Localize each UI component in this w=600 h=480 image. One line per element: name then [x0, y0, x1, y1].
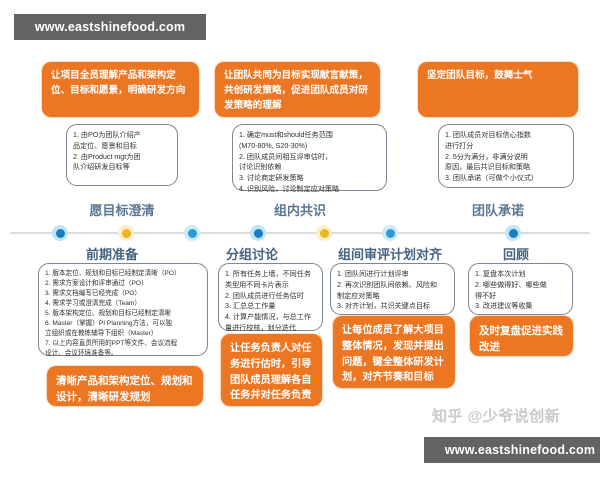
- detail-line: 4. 需求学习或澄清完成（Team）: [45, 299, 201, 309]
- detail-box-below-4: 1. 复盘本次计划 2. 哪些做得好、哪些做 得不好 3. 改进建议等收集: [468, 263, 573, 315]
- phase-label-below-3: 组间审评计划对齐: [338, 244, 442, 263]
- phase-label-below-4: 回顾: [503, 244, 529, 263]
- detail-line: 队介绍研发目标等: [73, 162, 171, 173]
- timeline-dot-core: [122, 229, 131, 238]
- outcome-box-below-1: 清晰产品和架构定位、规划和设计，清晰研发规划: [47, 366, 203, 406]
- phase-label-below-1: 前期准备: [86, 244, 138, 263]
- timeline-dot-core: [509, 229, 518, 238]
- watermark-banner-bottom: www.eastshinefood.com: [424, 437, 600, 463]
- detail-line: 讨论识别依赖: [239, 162, 380, 173]
- detail-line: 原因，最后共识目标和策略: [445, 162, 567, 173]
- detail-line: 2. 由Product mgt为团: [73, 152, 171, 163]
- infographic-canvas: www.eastshinefood.com www.eastshinefood.…: [0, 0, 600, 480]
- watermark-zhihu: 知乎 @少爷说创新: [432, 405, 560, 426]
- detail-line: 1. 团队成员对目标信心指数: [445, 130, 567, 141]
- detail-line: 3. 对齐计划，共识关键点目标: [337, 301, 448, 312]
- phase-label-below-2: 分组讨论: [226, 244, 278, 263]
- detail-line: 进行打分: [445, 141, 567, 152]
- timeline-dot-core: [320, 229, 329, 238]
- detail-line: 设计、会议环境准备等。: [45, 349, 201, 359]
- detail-box-below-1: 1. 版本定位、规划和目标已经制定清晰（PO） 2. 需求方案设计和评审通过（P…: [38, 263, 208, 356]
- detail-line: 1. 团队间进行计划评审: [337, 269, 448, 280]
- timeline-dot-3[interactable]: [184, 225, 200, 241]
- detail-line: 制定应对策略: [337, 291, 448, 302]
- phase-label-above-2: 组内共识: [274, 200, 326, 219]
- detail-line: 2. 哪些做得好、哪些做: [475, 280, 566, 291]
- detail-line: 2. 团队成员间相互评审估时，: [239, 152, 380, 163]
- timeline-dot-5[interactable]: [316, 225, 332, 241]
- detail-box-below-3: 1. 团队间进行计划评审 2. 再次识别团队间依赖、风险和 制定应对策略 3. …: [330, 263, 455, 315]
- outcome-box-below-3: 让每位成员了解大项目整体情况，发现并提出问题，键全整体研发计划，对齐节奏和目标: [333, 316, 455, 388]
- detail-line: 得不好: [475, 291, 566, 302]
- detail-line: 立组织或在教练辅导下组织（Master）: [45, 329, 201, 339]
- detail-line: 5. 版本架构定位、规划和目标已经制定清晰: [45, 309, 201, 319]
- timeline-dot-1[interactable]: [52, 225, 68, 241]
- detail-line: 1. 所有任务上墙，不同任务: [225, 269, 316, 280]
- timeline-dot-core: [386, 229, 395, 238]
- detail-line: 3. 汇总总工作量: [225, 301, 316, 312]
- detail-line: 1. 确定must和should任务范围: [239, 130, 380, 141]
- detail-line: 4. 计算产能情况，与总工作: [225, 312, 316, 323]
- detail-line: 1. 复盘本次计划: [475, 269, 566, 280]
- timeline-dot-core: [254, 229, 263, 238]
- timeline-dot-2[interactable]: [118, 225, 134, 241]
- timeline-dot-6[interactable]: [382, 225, 398, 241]
- detail-line: 3. 讨论商定研发策略: [239, 173, 380, 184]
- detail-line: 2. 需求方案设计和评审通过（PO）: [45, 279, 201, 289]
- watermark-banner-top: www.eastshinefood.com: [14, 14, 206, 40]
- detail-line: (M70-80%, S20-30%): [239, 141, 380, 152]
- timeline-dot-4[interactable]: [250, 225, 266, 241]
- detail-box-below-2: 1. 所有任务上墙，不同任务 类型用不同卡片表示 2. 团队成员进行任务估时 3…: [218, 263, 323, 331]
- detail-line: 2. 团队成员进行任务估时: [225, 291, 316, 302]
- detail-line: 量进行校核，划分迭代: [225, 323, 316, 334]
- detail-line: 6. Master（掌握）PI Planning方法，可以独: [45, 319, 201, 329]
- detail-line: 3. 团队承诺（可做个小仪式）: [445, 173, 567, 184]
- detail-line: 2. 再次识别团队间依赖、风险和: [337, 280, 448, 291]
- detail-line: 2. 5分为满分，非满分说明: [445, 152, 567, 163]
- detail-line: 1. 版本定位、规划和目标已经制定清晰（PO）: [45, 269, 201, 279]
- phase-label-above-1: 愿目标澄清: [89, 200, 154, 219]
- timeline-dot-core: [188, 229, 197, 238]
- detail-box-above-3: 1. 团队成员对目标信心指数 进行打分 2. 5分为满分，非满分说明 原因，最后…: [438, 124, 574, 188]
- detail-line: 4. 识别风险，讨论制定应对策略: [239, 184, 380, 195]
- outcome-box-below-4: 及时复盘促进实践改进: [470, 316, 573, 356]
- detail-box-above-1: 1. 由PO为团队介绍产 品定位、愿景和目标 2. 由Product mgt为团…: [66, 124, 178, 186]
- goal-box-above-3: 坚定团队目标，鼓舞士气: [418, 62, 578, 117]
- timeline-dot-7[interactable]: [505, 225, 521, 241]
- phase-label-above-3: 团队承诺: [472, 200, 524, 219]
- outcome-box-below-2: 让任务负责人对任务进行估时，引导团队成员理解各自任务并对任务负责: [221, 334, 322, 406]
- detail-line: 3. 改进建议等收集: [475, 301, 566, 312]
- timeline-axis: [10, 232, 590, 234]
- detail-line: 3. 需求文档编写已经完成（PO）: [45, 289, 201, 299]
- detail-line: 7. 以上内容直贯所用的PPT等文件、会议流程: [45, 339, 201, 349]
- goal-box-above-1: 让项目全员理解产品和架构定位、目标和愿景，明确研发方向: [42, 62, 199, 117]
- detail-line: 1. 由PO为团队介绍产: [73, 130, 171, 141]
- detail-line: 类型用不同卡片表示: [225, 280, 316, 291]
- detail-box-above-2: 1. 确定must和should任务范围 (M70-80%, S20-30%) …: [232, 124, 387, 191]
- detail-line: 品定位、愿景和目标: [73, 141, 171, 152]
- goal-box-above-2: 让团队共同为目标实现献言献策，共创研发策略，促进团队成员对研发策略的理解: [215, 62, 380, 117]
- timeline-dot-core: [56, 229, 65, 238]
